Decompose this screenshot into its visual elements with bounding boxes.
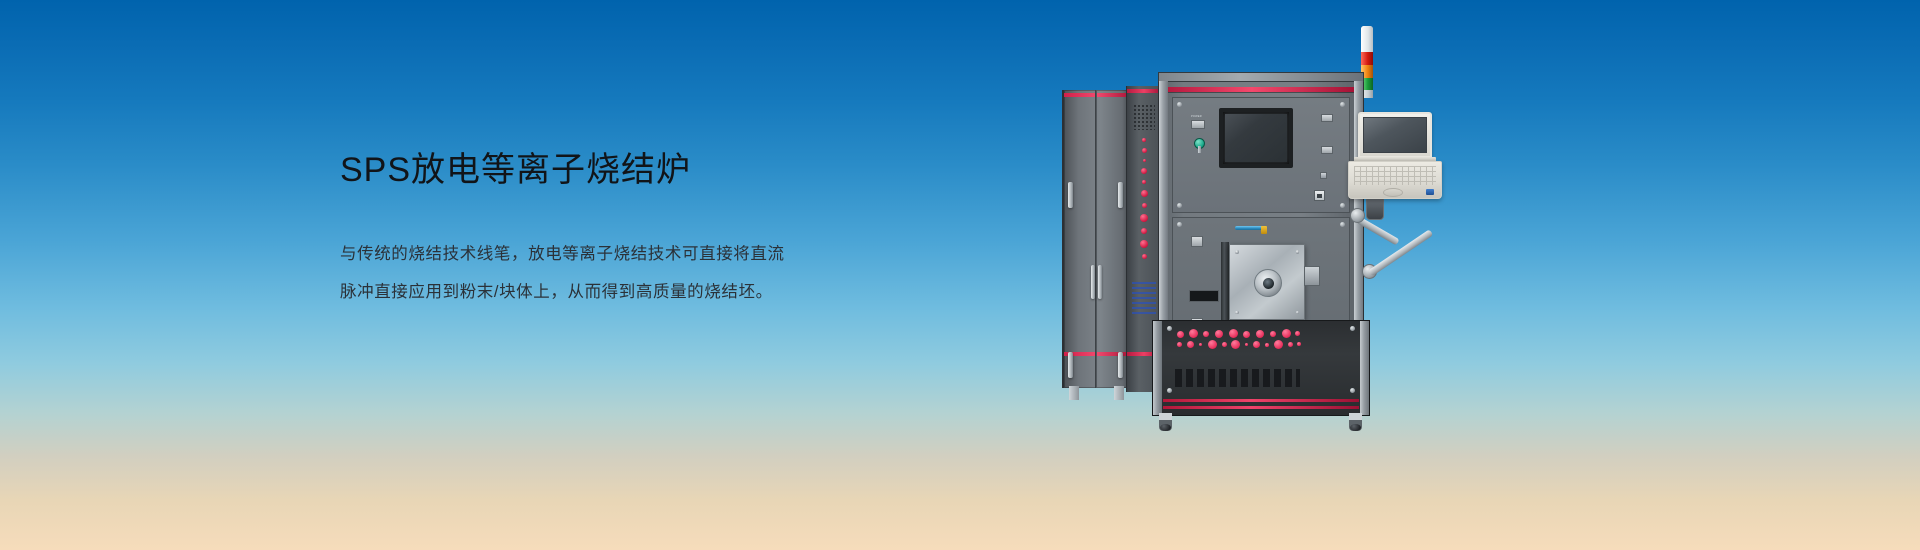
indicator-dot: [1215, 330, 1223, 338]
indicator-dot: [1297, 342, 1301, 346]
panel-screw: [1350, 388, 1355, 393]
accent-stripe: [1163, 406, 1359, 409]
laptop-deck: [1348, 161, 1442, 199]
indicator-dot: [1141, 228, 1147, 234]
indicator-dot: [1177, 331, 1184, 338]
indicator-dot: [1282, 329, 1291, 338]
upper-control-face: POWER: [1172, 97, 1350, 213]
arm-joint: [1350, 208, 1365, 223]
indicator-dot: [1142, 180, 1146, 184]
accent-stripe: [1163, 399, 1359, 402]
accent-stripe: [1127, 89, 1161, 93]
cabinet-top-cap: [1158, 72, 1364, 82]
cabinet-hinge: [1068, 352, 1073, 378]
arm-lower-segment: [1368, 229, 1433, 276]
indicator-dot: [1141, 168, 1147, 174]
indicator-dot: [1177, 342, 1182, 347]
laptop-screen: [1363, 117, 1427, 153]
indicator-dot: [1142, 203, 1147, 208]
panel-screw: [1177, 102, 1182, 107]
panel-screw: [1167, 388, 1172, 393]
indicator-dot: [1245, 343, 1248, 346]
indicator-dot: [1256, 330, 1264, 338]
indicator-dot: [1203, 331, 1209, 337]
hero-copy-block: SPS放电等离子烧结炉 与传统的烧结技术线笔，放电等离子烧结技术可直接将直流 脉…: [340, 150, 900, 311]
indicator-dot: [1187, 341, 1194, 348]
chamber-bolt: [1235, 311, 1239, 315]
laptop-lid: [1358, 112, 1432, 158]
indicator-dot: [1265, 343, 1269, 347]
selector-knob[interactable]: [1194, 138, 1205, 149]
indicator-dot: [1140, 214, 1148, 222]
chamber-door-hinge: [1221, 242, 1229, 322]
indicator-dot: [1189, 329, 1198, 338]
hmi-screen-glass: [1225, 114, 1287, 162]
rocker-switch[interactable]: [1191, 120, 1205, 129]
ventilation-louvers: [1175, 369, 1300, 387]
cabinet-foot: [1069, 386, 1079, 400]
hmi-touchscreen[interactable]: [1219, 108, 1293, 168]
panel-screw: [1340, 102, 1345, 107]
indicator-dot: [1231, 340, 1240, 349]
caster-wheel: [1159, 413, 1172, 431]
indicator-dot: [1295, 331, 1300, 336]
chamber-bolt: [1235, 250, 1239, 254]
coolant-pipe: [1235, 226, 1263, 230]
usb-port[interactable]: [1314, 190, 1325, 201]
indicator-switch[interactable]: [1321, 146, 1333, 154]
indicator-dot: [1141, 190, 1148, 197]
panel-label-text: [1132, 282, 1156, 316]
indicator-dot-column: [1135, 138, 1153, 265]
panel-screw: [1167, 326, 1172, 331]
laptop-trackpad[interactable]: [1383, 188, 1403, 197]
cabinet-door-seam: [1095, 90, 1097, 388]
push-button[interactable]: [1320, 172, 1327, 179]
laptop-badge: [1426, 189, 1434, 195]
caster-wheel: [1349, 413, 1362, 431]
indicator-dot: [1142, 138, 1146, 142]
chamber-viewport: [1254, 269, 1282, 297]
indicator-switch[interactable]: [1321, 114, 1333, 122]
panel-screw: [1177, 203, 1182, 208]
indicator-dot: [1142, 254, 1147, 259]
cabinet-door-handle: [1091, 265, 1095, 299]
panel-screw: [1340, 222, 1345, 227]
hero-description-line-1: 与传统的烧结技术线笔，放电等离子烧结技术可直接将直流: [340, 235, 900, 273]
switch-label: POWER: [1191, 115, 1202, 118]
cabinet-foot: [1114, 386, 1124, 400]
cabinet-frame-edge: [1153, 321, 1162, 415]
page-title: SPS放电等离子烧结炉: [340, 150, 900, 191]
indicator-dot: [1243, 331, 1250, 338]
vacuum-chamber-door[interactable]: [1229, 244, 1305, 320]
indicator-dot: [1270, 331, 1276, 337]
digital-readout: [1189, 290, 1219, 302]
hero-description: 与传统的烧结技术线笔，放电等离子烧结技术可直接将直流 脉冲直接应用到粉末/块体上…: [340, 235, 900, 311]
knob-stem: [1198, 146, 1201, 153]
indicator-dot: [1222, 342, 1227, 347]
chamber-bolt: [1296, 311, 1300, 315]
indicator-dot: [1140, 240, 1148, 248]
cabinet-hinge: [1118, 352, 1123, 378]
accent-stripe: [1064, 93, 1130, 97]
accent-stripe: [1168, 87, 1354, 92]
indicator-dot: [1253, 341, 1260, 348]
panel-screw: [1177, 222, 1182, 227]
chamber-door-latch[interactable]: [1304, 266, 1320, 286]
indicator-dot: [1288, 342, 1293, 347]
indicator-dot: [1142, 148, 1147, 153]
indicator-dot: [1143, 159, 1146, 162]
indicator-dot: [1229, 329, 1238, 338]
ventilation-perforation: [1133, 104, 1155, 130]
stack-light-red: [1361, 52, 1373, 65]
control-switch[interactable]: [1191, 236, 1203, 247]
indicator-dot: [1274, 340, 1283, 349]
cabinet-door-handle: [1098, 265, 1102, 299]
chamber-bolt: [1296, 250, 1300, 254]
lower-base-cabinet: [1152, 320, 1370, 416]
cabinet-hinge: [1118, 182, 1123, 208]
indicator-dot: [1208, 340, 1217, 349]
indicator-dot: [1199, 343, 1202, 346]
cabinet-frame-edge: [1360, 321, 1369, 415]
laptop-keyboard[interactable]: [1354, 166, 1436, 185]
stack-light-white: [1361, 26, 1373, 52]
cabinet-hinge: [1068, 182, 1073, 208]
power-supply-cabinet: [1062, 90, 1130, 388]
hero-banner: SPS放电等离子烧结炉 与传统的烧结技术线笔，放电等离子烧结技术可直接将直流 脉…: [0, 0, 1920, 550]
control-laptop: [1340, 112, 1450, 204]
product-image-sps-furnace: POWER: [1040, 20, 1460, 420]
coolant-pipe-elbow: [1261, 226, 1267, 234]
hero-description-line-2: 脉冲直接应用到粉末/块体上，从而得到高质量的烧结坯。: [340, 273, 900, 311]
indicator-dot-field: [1175, 329, 1305, 351]
panel-screw: [1350, 326, 1355, 331]
